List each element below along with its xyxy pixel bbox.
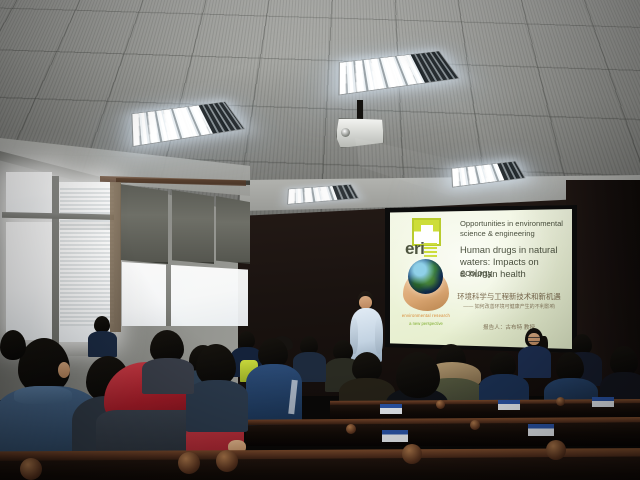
window-mullion-vertical xyxy=(52,176,59,344)
glasses-icon xyxy=(528,337,540,342)
lecture-hall-photo: eri environmental research a new perspec… xyxy=(0,0,640,480)
bench-knob xyxy=(216,450,238,472)
window-glass-behind-shades xyxy=(122,262,248,326)
bench-knob xyxy=(346,424,356,434)
window-blinds xyxy=(60,186,114,326)
attendee-far-1-body xyxy=(88,331,117,357)
seat-number-label xyxy=(592,397,614,407)
window-glass-lower-left xyxy=(6,222,52,340)
slide-heading-line-1: Opportunities in environmental xyxy=(460,220,563,229)
roller-shade-2[interactable] xyxy=(172,190,214,264)
bench-knob xyxy=(436,400,445,409)
slide-sidebar-tagline-2: a new perspective xyxy=(398,321,454,326)
slide-heading-line-2: science & engineering xyxy=(460,230,535,239)
seat-number-label xyxy=(528,424,554,436)
attendee-fg-right-head xyxy=(396,352,440,398)
slide-chinese-speaker: 报告人：古布特 教授 xyxy=(450,325,568,332)
slide-title-line-3: & human health xyxy=(460,269,526,280)
window-glass-upper-left xyxy=(6,172,52,214)
bench-knob xyxy=(556,397,565,406)
seat-number-label xyxy=(382,430,408,442)
projector-lens xyxy=(341,128,350,137)
window-frame-behind-shades xyxy=(166,264,171,326)
bench-knob xyxy=(546,440,566,460)
slide-title-line-1: Human drugs in natural xyxy=(460,245,557,256)
attendee-denim-ear xyxy=(58,362,70,378)
projection-screen: eri environmental research a new perspec… xyxy=(390,209,572,349)
attendee-fg-5-head xyxy=(0,330,26,360)
attendee-fg-4-body xyxy=(142,358,194,394)
roller-shade-3[interactable] xyxy=(216,196,250,264)
presenter-arm-right xyxy=(375,318,383,354)
projector-mount-pole xyxy=(357,100,363,122)
eri-logo-bars xyxy=(424,243,437,259)
bench-knob xyxy=(402,444,422,464)
bench-knob xyxy=(20,458,42,480)
attendee-glasses-ponytail-body xyxy=(518,346,551,378)
bench-knob xyxy=(470,420,480,430)
eri-wordmark: eri xyxy=(405,239,424,259)
left-wall-column xyxy=(110,182,121,332)
slide-sidebar-tagline: environmental research xyxy=(398,313,454,318)
seat-number-label xyxy=(498,400,520,410)
roller-shade-1[interactable] xyxy=(120,184,168,264)
slide-chinese-subtitle: —— 如何改善环境可健康产生的不利影响 xyxy=(450,304,568,310)
bench-knob xyxy=(178,452,200,474)
seat-number-label xyxy=(380,404,402,414)
attendee-fg-3-body xyxy=(186,380,248,432)
denim-collar xyxy=(14,386,72,404)
slide-chinese-title: 环境科学与工程新技术和新机遇 xyxy=(450,293,568,302)
earth-globe-illustration xyxy=(408,259,443,294)
